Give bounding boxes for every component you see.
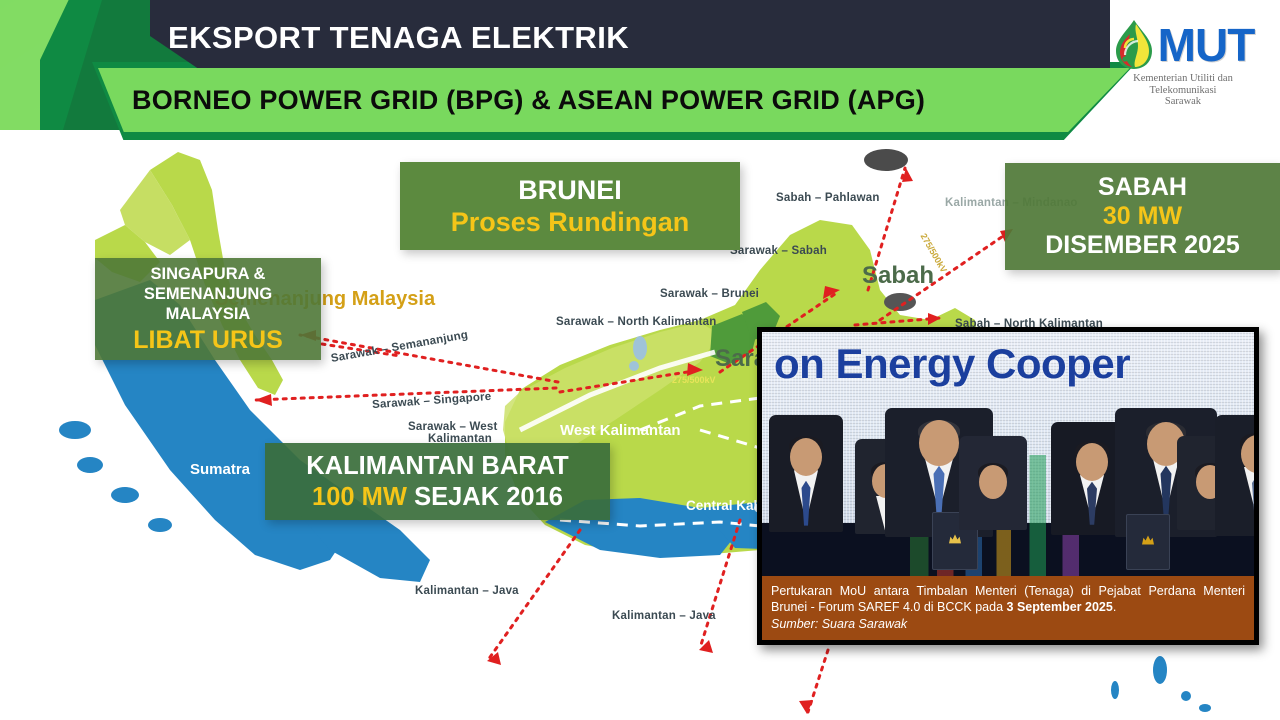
page-title: EKSPORT TENAGA ELEKTRIK [168,10,928,65]
callout-sabah-title: SABAH [1098,173,1187,202]
island-dot [864,149,908,171]
region-label-west-kalimantan: West Kalimantan [560,422,681,439]
island-dot [59,421,91,439]
island-dot [629,361,639,371]
callout-singapura-status: LIBAT URUS [133,325,283,355]
callout-kalbar-capacity: 100 MW [312,483,407,511]
callout-sabah-capacity: 30 MW [1103,202,1182,231]
island-dot [1181,691,1191,701]
map-label-kalimantan-java-2: Kalimantan – Java [612,610,716,622]
map-label-sarawak-sabah: Sarawak – Sabah [730,245,827,257]
map-label-sarawak-west: Sarawak – West [408,421,498,433]
mut-logo-subtitle: Kementerian Utiliti dan Telekomunikasi S… [1133,73,1233,108]
callout-brunei-title: BRUNEI [518,175,622,206]
callout-singapura-line1: SINGAPURA & [151,264,266,284]
island-dot [1111,681,1119,699]
official-6 [1214,415,1254,587]
flame-droplet-icon [1112,18,1156,72]
voltage-label-sarawak: 275/500kV [672,375,716,385]
region-label-sabah: Sabah [862,262,934,290]
island-dot [77,457,103,473]
map-label-sabah-pahlawan: Sabah – Pahlawan [776,192,880,204]
mou-photo: on Energy Cooper [762,332,1254,640]
photo-caption: Pertukaran MoU antara Timbalan Menteri (… [762,576,1254,641]
mut-logo-mark: MUT [1112,18,1255,72]
mut-logo-subtitle-line1: Kementerian Utiliti dan [1133,73,1233,85]
callout-singapura-line3: MALAYSIA [166,304,251,324]
mut-logo-text: MUT [1158,23,1255,67]
callout-singapura-semenanjung[interactable]: SINGAPURA & SEMENANJUNG MALAYSIA LIBAT U… [95,258,321,360]
callout-kalbar-suffix: SEJAK 2016 [414,483,563,511]
island-dot [1153,656,1167,684]
slide-canvas: Sabah – Pahlawan Kalimantan – Mindanao S… [0,0,1280,720]
officials-group [762,415,1254,587]
mut-logo-subtitle-line2: Telekomunikasi [1133,85,1233,97]
map-label-kalimantan-java-1: Kalimantan – Java [415,585,519,597]
callout-kalbar-detail: 100 MW SEJAK 2016 [312,482,563,513]
photo-caption-source: Sumber: Suara Sarawak [771,616,1245,633]
region-label-central-kalimantan: Central Kal [686,498,757,513]
callout-kalimantan-barat[interactable]: KALIMANTAN BARAT 100 MW SEJAK 2016 [265,443,610,520]
led-screen-text: on Energy Cooper [774,340,1254,388]
island-dot [111,487,139,503]
island-dot [633,336,647,360]
region-label-java: Java [588,686,626,706]
callout-brunei[interactable]: BRUNEI Proses Rundingan [400,162,740,250]
callout-sabah[interactable]: SABAH 30 MW DISEMBER 2025 [1005,163,1280,270]
callout-singapura-line2: SEMENANJUNG [144,284,272,304]
island-dot [148,518,172,532]
region-label-sumatra: Sumatra [190,461,250,478]
island-dot [1199,704,1211,712]
official-3 [958,436,1028,588]
mut-logo: MUT Kementerian Utiliti dan Telekomunika… [1098,18,1268,123]
page-subtitle: BORNEO POWER GRID (BPG) & ASEAN POWER GR… [132,68,1072,132]
mut-logo-subtitle-line3: Sarawak [1133,96,1233,108]
callout-sabah-date: DISEMBER 2025 [1045,231,1240,260]
photo-caption-date: 3 September 2025 [1007,600,1113,614]
map-label-sarawak-north-kalimantan: Sarawak – North Kalimantan [556,316,717,328]
island-dot [884,293,916,311]
mou-photo-card[interactable]: on Energy Cooper [757,327,1259,645]
callout-brunei-status: Proses Rundingan [451,206,690,238]
callout-kalbar-title: KALIMANTAN BARAT [306,451,569,482]
official-1 [768,415,844,587]
photo-caption-end: . [1113,600,1116,614]
